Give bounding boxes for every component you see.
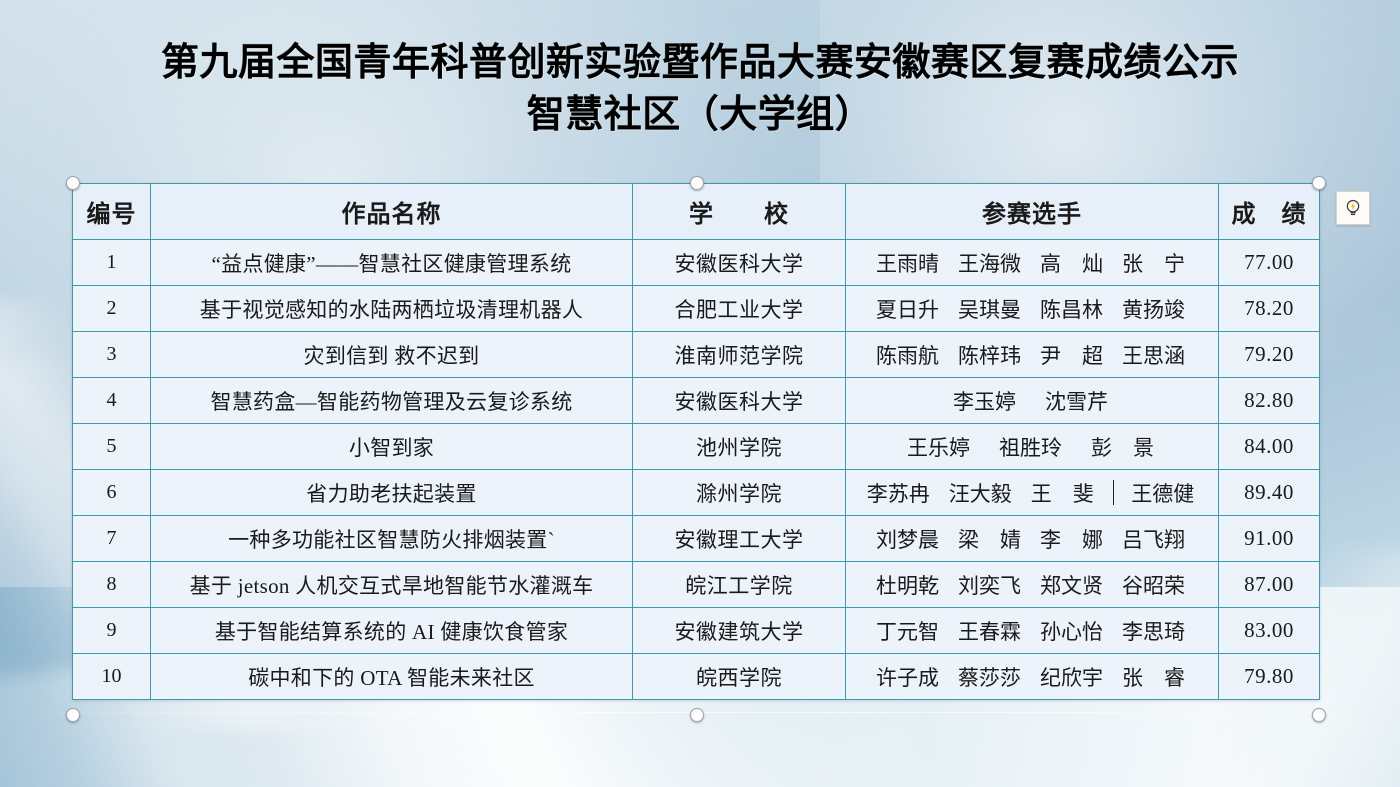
member-name: 陈雨航	[876, 340, 942, 370]
member-name: 张 宁	[1122, 248, 1188, 278]
member-name: 郑文贤	[1040, 570, 1106, 600]
cell-score[interactable]: 91.00	[1219, 516, 1320, 562]
cell-members[interactable]: 夏日升吴琪曼陈昌林黄扬竣	[846, 286, 1219, 332]
member-list: 陈雨航陈梓玮尹 超王思涵	[856, 340, 1208, 370]
selection-handle-bottom-left[interactable]	[66, 708, 80, 722]
member-name: 谷昭荣	[1122, 570, 1188, 600]
member-name: 纪欣宇	[1040, 662, 1106, 692]
cell-school[interactable]: 淮南师范学院	[633, 332, 846, 378]
cell-name[interactable]: 基于视觉感知的水陆两栖垃圾清理机器人	[151, 286, 633, 332]
member-name: 王雨晴	[876, 248, 942, 278]
cell-name[interactable]: 省力助老扶起装置	[151, 470, 633, 516]
cell-school[interactable]: 安徽建筑大学	[633, 608, 846, 654]
title-line-1: 第九届全国青年科普创新实验暨作品大赛安徽赛区复赛成绩公示	[0, 36, 1400, 88]
table-header-row: 编号 作品名称 学 校 参赛选手 成 绩	[73, 184, 1320, 240]
table-row[interactable]: 2基于视觉感知的水陆两栖垃圾清理机器人合肥工业大学夏日升吴琪曼陈昌林黄扬竣78.…	[73, 286, 1320, 332]
member-list: 王乐婷祖胜玲彭 景	[856, 432, 1208, 462]
table-row[interactable]: 9基于智能结算系统的 AI 健康饮食管家安徽建筑大学丁元智王春霖孙心怡李思琦83…	[73, 608, 1320, 654]
member-name: 孙心怡	[1040, 616, 1106, 646]
cell-score[interactable]: 79.80	[1219, 654, 1320, 700]
cell-score[interactable]: 79.20	[1219, 332, 1320, 378]
member-name: 王春霖	[958, 616, 1024, 646]
cell-score[interactable]: 84.00	[1219, 424, 1320, 470]
cell-school[interactable]: 皖江工学院	[633, 562, 846, 608]
cell-id[interactable]: 10	[73, 654, 151, 700]
selection-handle-top-left[interactable]	[66, 176, 80, 190]
cell-members[interactable]: 丁元智王春霖孙心怡李思琦	[846, 608, 1219, 654]
member-list: 丁元智王春霖孙心怡李思琦	[856, 616, 1208, 646]
cell-members[interactable]: 王乐婷祖胜玲彭 景	[846, 424, 1219, 470]
member-name: 张 睿	[1122, 662, 1188, 692]
cell-id[interactable]: 8	[73, 562, 151, 608]
member-name: 尹 超	[1040, 340, 1106, 370]
member-name: 王海微	[958, 248, 1024, 278]
cell-school[interactable]: 安徽理工大学	[633, 516, 846, 562]
member-name: 彭 景	[1091, 432, 1157, 462]
table-row[interactable]: 5小智到家池州学院王乐婷祖胜玲彭 景84.00	[73, 424, 1320, 470]
column-header-school: 学 校	[633, 184, 846, 240]
member-name: 李苏冉	[867, 478, 933, 508]
table-row[interactable]: 4智慧药盒—智能药物管理及云复诊系统安徽医科大学李玉婷沈雪芹82.80	[73, 378, 1320, 424]
member-name: 王 斐	[1031, 478, 1097, 508]
slide-title: 第九届全国青年科普创新实验暨作品大赛安徽赛区复赛成绩公示 智慧社区（大学组）	[0, 36, 1400, 140]
cell-score[interactable]: 87.00	[1219, 562, 1320, 608]
table-row[interactable]: 1“益点健康”——智慧社区健康管理系统安徽医科大学王雨晴王海微高 灿张 宁77.…	[73, 240, 1320, 286]
cell-members[interactable]: 王雨晴王海微高 灿张 宁	[846, 240, 1219, 286]
member-name: 夏日升	[876, 294, 942, 324]
cell-name[interactable]: 小智到家	[151, 424, 633, 470]
column-header-name: 作品名称	[151, 184, 633, 240]
design-ideas-button[interactable]	[1336, 191, 1370, 225]
selection-handle-bottom-right[interactable]	[1312, 708, 1326, 722]
member-name: 刘奕飞	[958, 570, 1024, 600]
selection-handle-top-right[interactable]	[1312, 176, 1326, 190]
member-list: 刘梦晨梁 婧李 娜吕飞翔	[856, 524, 1208, 554]
cell-name[interactable]: “益点健康”——智慧社区健康管理系统	[151, 240, 633, 286]
text-cursor	[1113, 480, 1115, 505]
cell-members[interactable]: 刘梦晨梁 婧李 娜吕飞翔	[846, 516, 1219, 562]
member-name: 许子成	[876, 662, 942, 692]
member-name: 王乐婷	[907, 432, 973, 462]
presentation-slide: 第九届全国青年科普创新实验暨作品大赛安徽赛区复赛成绩公示 智慧社区（大学组） 编…	[0, 0, 1400, 787]
cell-name[interactable]: 智慧药盒—智能药物管理及云复诊系统	[151, 378, 633, 424]
column-header-id: 编号	[73, 184, 151, 240]
results-table[interactable]: 编号 作品名称 学 校 参赛选手 成 绩 1“益点健康”——智慧社区健康管理系统…	[72, 183, 1320, 700]
column-header-member: 参赛选手	[846, 184, 1219, 240]
member-name: 杜明乾	[876, 570, 942, 600]
results-table-container[interactable]: 编号 作品名称 学 校 参赛选手 成 绩 1“益点健康”——智慧社区健康管理系统…	[72, 183, 1319, 700]
cell-members[interactable]: 李玉婷沈雪芹	[846, 378, 1219, 424]
member-name: 王德健	[1131, 478, 1197, 508]
table-row[interactable]: 8基于 jetson 人机交互式旱地智能节水灌溉车皖江工学院杜明乾刘奕飞郑文贤谷…	[73, 562, 1320, 608]
table-row[interactable]: 7一种多功能社区智慧防火排烟装置`安徽理工大学刘梦晨梁 婧李 娜吕飞翔91.00	[73, 516, 1320, 562]
member-name: 吴琪曼	[958, 294, 1024, 324]
cell-school[interactable]: 安徽医科大学	[633, 240, 846, 286]
table-row[interactable]: 10碳中和下的 OTA 智能未来社区皖西学院许子成蔡莎莎纪欣宇张 睿79.80	[73, 654, 1320, 700]
cell-school[interactable]: 合肥工业大学	[633, 286, 846, 332]
table-row[interactable]: 6省力助老扶起装置滁州学院李苏冉汪大毅王 斐王德健89.40	[73, 470, 1320, 516]
member-name: 汪大毅	[949, 478, 1015, 508]
cell-school[interactable]: 池州学院	[633, 424, 846, 470]
cell-score[interactable]: 78.20	[1219, 286, 1320, 332]
cell-name[interactable]: 基于智能结算系统的 AI 健康饮食管家	[151, 608, 633, 654]
member-name: 陈梓玮	[958, 340, 1024, 370]
member-name: 陈昌林	[1040, 294, 1106, 324]
cell-id[interactable]: 7	[73, 516, 151, 562]
cell-id[interactable]: 5	[73, 424, 151, 470]
cell-id[interactable]: 9	[73, 608, 151, 654]
table-body: 1“益点健康”——智慧社区健康管理系统安徽医科大学王雨晴王海微高 灿张 宁77.…	[73, 240, 1320, 700]
cell-id[interactable]: 2	[73, 286, 151, 332]
cell-score[interactable]: 77.00	[1219, 240, 1320, 286]
member-list: 王雨晴王海微高 灿张 宁	[856, 248, 1208, 278]
member-list: 杜明乾刘奕飞郑文贤谷昭荣	[856, 570, 1208, 600]
title-line-2: 智慧社区（大学组）	[0, 88, 1400, 140]
member-name: 高 灿	[1040, 248, 1106, 278]
member-name: 祖胜玲	[999, 432, 1065, 462]
member-list: 李苏冉汪大毅王 斐王德健	[856, 478, 1208, 508]
member-name: 刘梦晨	[876, 524, 942, 554]
member-list: 李玉婷沈雪芹	[856, 386, 1208, 416]
selection-handle-bottom-center[interactable]	[690, 708, 704, 722]
member-name: 沈雪芹	[1045, 386, 1111, 416]
cell-id[interactable]: 6	[73, 470, 151, 516]
cell-school[interactable]: 滁州学院	[633, 470, 846, 516]
cell-name[interactable]: 基于 jetson 人机交互式旱地智能节水灌溉车	[151, 562, 633, 608]
member-name: 梁 婧	[958, 524, 1024, 554]
table-row[interactable]: 3灾到信到 救不迟到淮南师范学院陈雨航陈梓玮尹 超王思涵79.20	[73, 332, 1320, 378]
column-header-score: 成 绩	[1219, 184, 1320, 240]
cell-name[interactable]: 一种多功能社区智慧防火排烟装置`	[151, 516, 633, 562]
cell-school[interactable]: 安徽医科大学	[633, 378, 846, 424]
cell-members[interactable]: 许子成蔡莎莎纪欣宇张 睿	[846, 654, 1219, 700]
cell-score[interactable]: 89.40	[1219, 470, 1320, 516]
cell-members[interactable]: 陈雨航陈梓玮尹 超王思涵	[846, 332, 1219, 378]
member-name: 李玉婷	[953, 386, 1019, 416]
cell-members[interactable]: 杜明乾刘奕飞郑文贤谷昭荣	[846, 562, 1219, 608]
member-name: 丁元智	[876, 616, 942, 646]
member-list: 夏日升吴琪曼陈昌林黄扬竣	[856, 294, 1208, 324]
member-name: 蔡莎莎	[958, 662, 1024, 692]
cell-id[interactable]: 4	[73, 378, 151, 424]
lightbulb-icon	[1342, 197, 1364, 219]
member-list: 许子成蔡莎莎纪欣宇张 睿	[856, 662, 1208, 692]
cell-score[interactable]: 82.80	[1219, 378, 1320, 424]
cell-name[interactable]: 碳中和下的 OTA 智能未来社区	[151, 654, 633, 700]
member-name: 黄扬竣	[1122, 294, 1188, 324]
cell-id[interactable]: 3	[73, 332, 151, 378]
member-name: 李思琦	[1122, 616, 1188, 646]
member-name: 吕飞翔	[1122, 524, 1188, 554]
cell-id[interactable]: 1	[73, 240, 151, 286]
member-name: 王思涵	[1122, 340, 1188, 370]
cell-school[interactable]: 皖西学院	[633, 654, 846, 700]
selection-handle-top-center[interactable]	[690, 176, 704, 190]
cell-score[interactable]: 83.00	[1219, 608, 1320, 654]
member-name: 李 娜	[1040, 524, 1106, 554]
cell-members[interactable]: 李苏冉汪大毅王 斐王德健	[846, 470, 1219, 516]
cell-name[interactable]: 灾到信到 救不迟到	[151, 332, 633, 378]
